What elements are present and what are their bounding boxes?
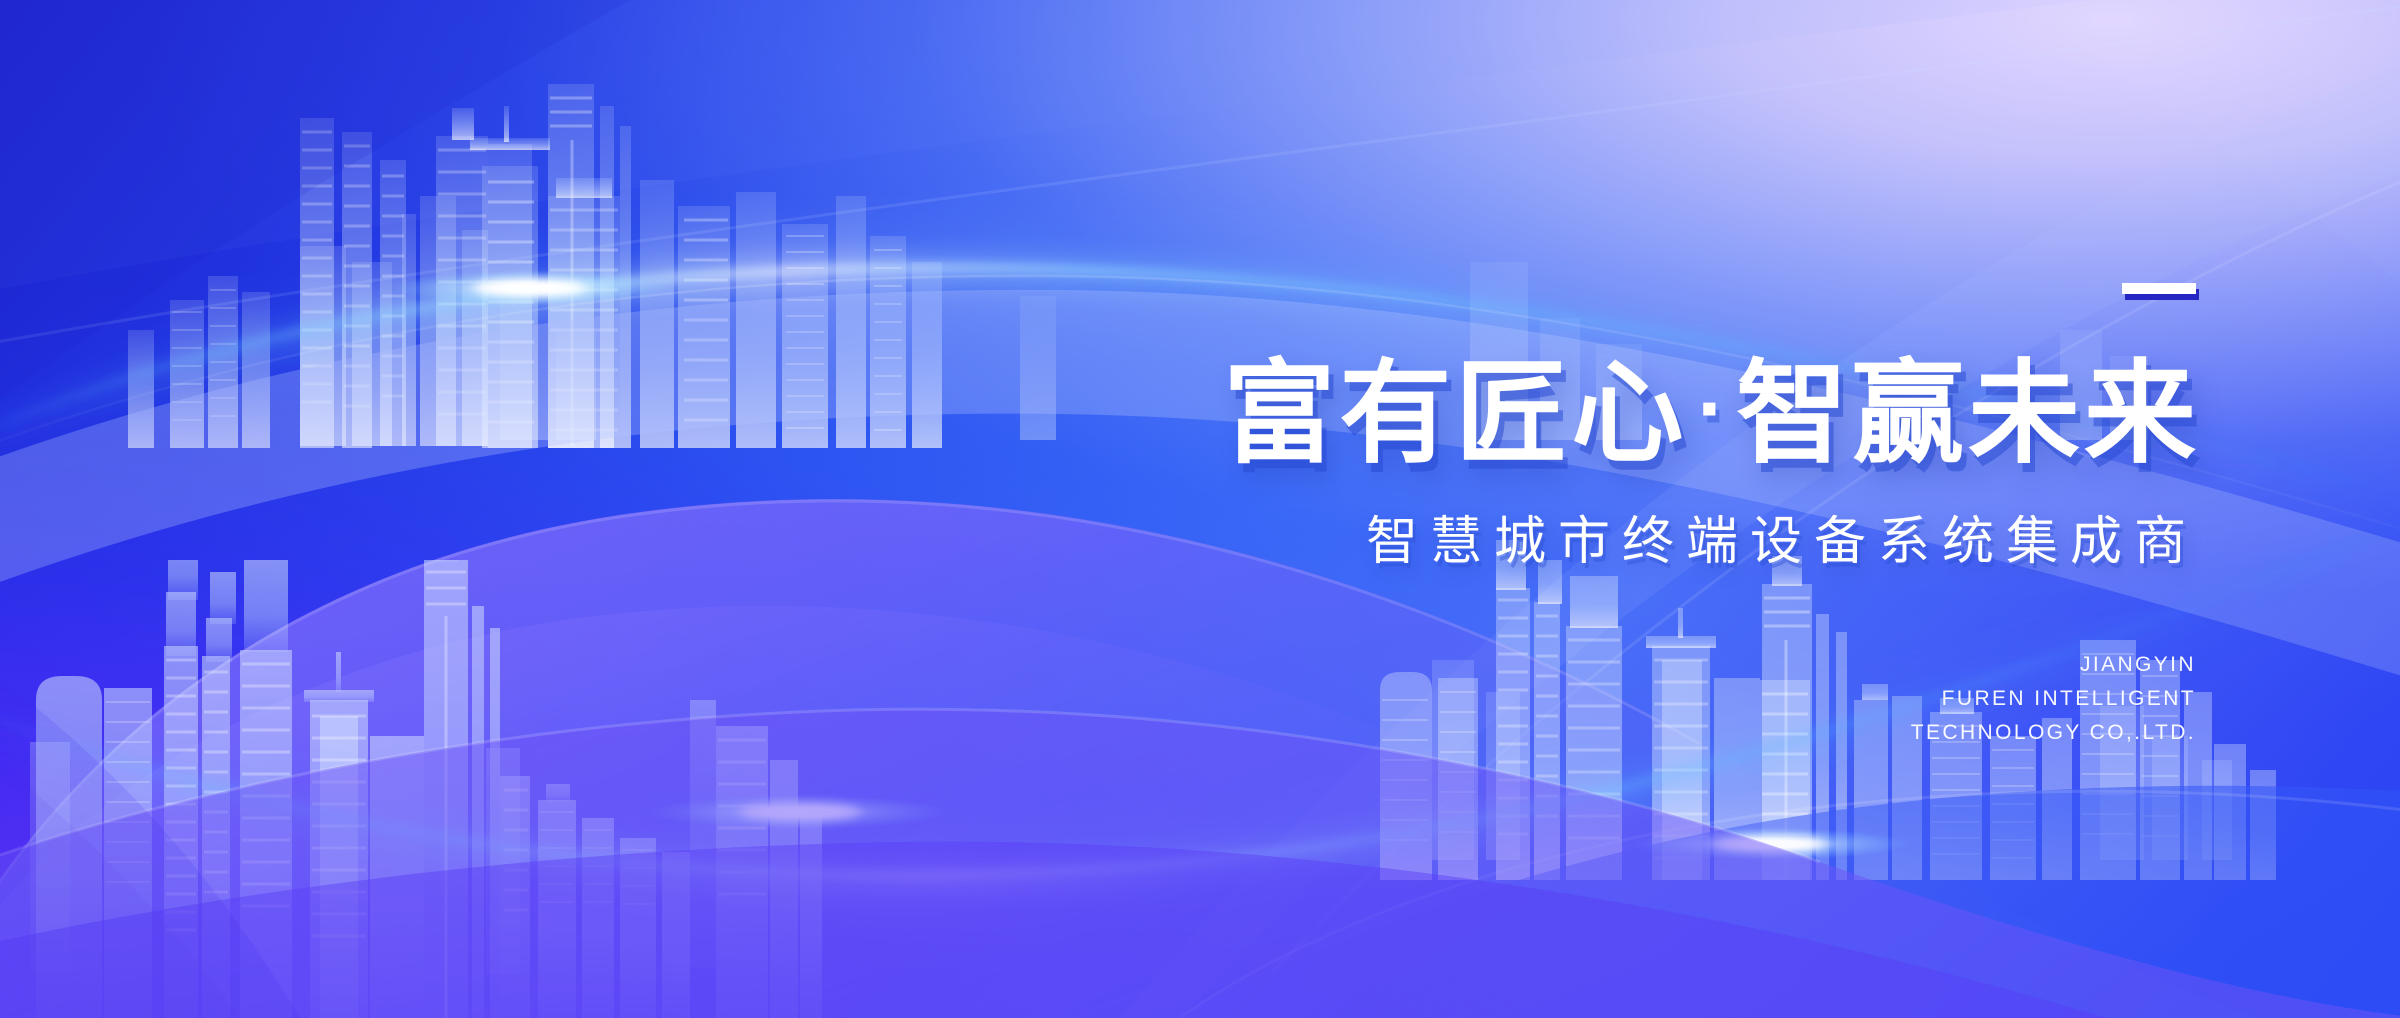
banner-canvas: 富有匠心·智赢未来 智慧城市终端设备系统集成商 JIANGYIN FUREN I… — [0, 0, 2400, 1018]
page-subtitle: 智慧城市终端设备系统集成商 — [1366, 516, 2198, 568]
headline-right: 智赢未来 — [1736, 351, 2200, 476]
company-line-3: TECHNOLOGY CO,.LTD. — [1911, 716, 2196, 750]
headline-left: 富有匠心 — [1223, 351, 1687, 476]
middle-dot-icon: · — [1687, 366, 1736, 452]
page-title: 富有匠心·智赢未来 — [1223, 358, 2200, 470]
background-artwork — [0, 0, 2400, 1018]
company-line-2: FUREN INTELLIGENT — [1911, 682, 2196, 716]
company-name-en: JIANGYIN FUREN INTELLIGENT TECHNOLOGY CO… — [1911, 648, 2196, 750]
dash-icon — [2122, 283, 2196, 294]
company-line-1: JIANGYIN — [1911, 648, 2196, 682]
